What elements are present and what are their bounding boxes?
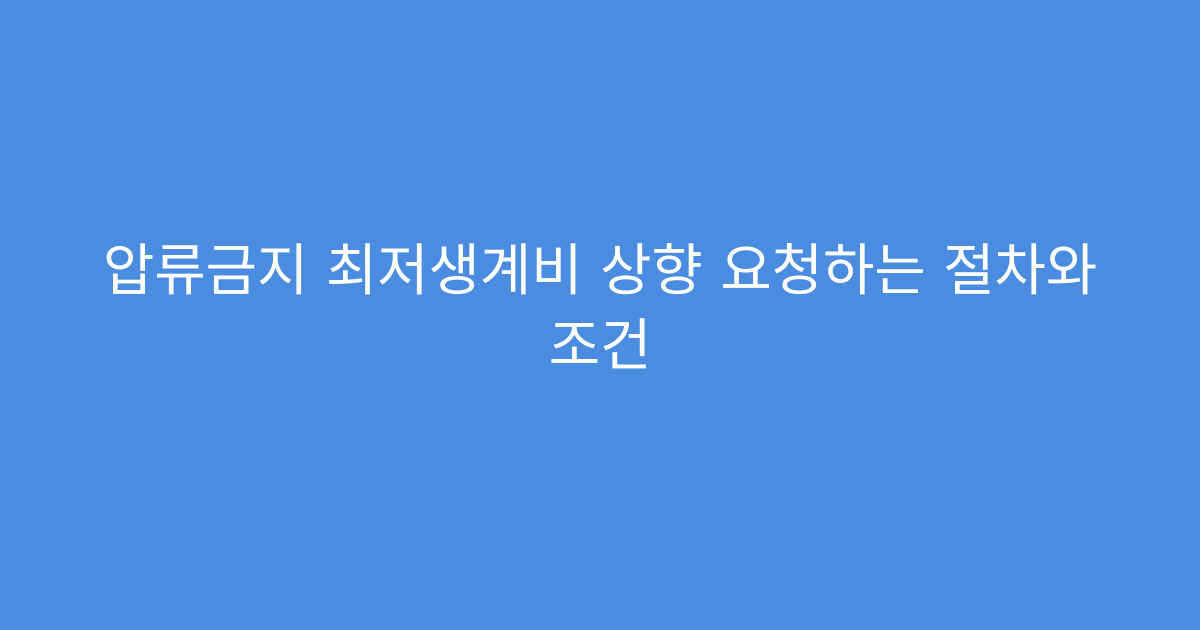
- og-banner-card: 압류금지 최저생계비 상향 요청하는 절차와 조건: [0, 0, 1200, 630]
- page-title: 압류금지 최저생계비 상향 요청하는 절차와 조건: [56, 234, 1144, 384]
